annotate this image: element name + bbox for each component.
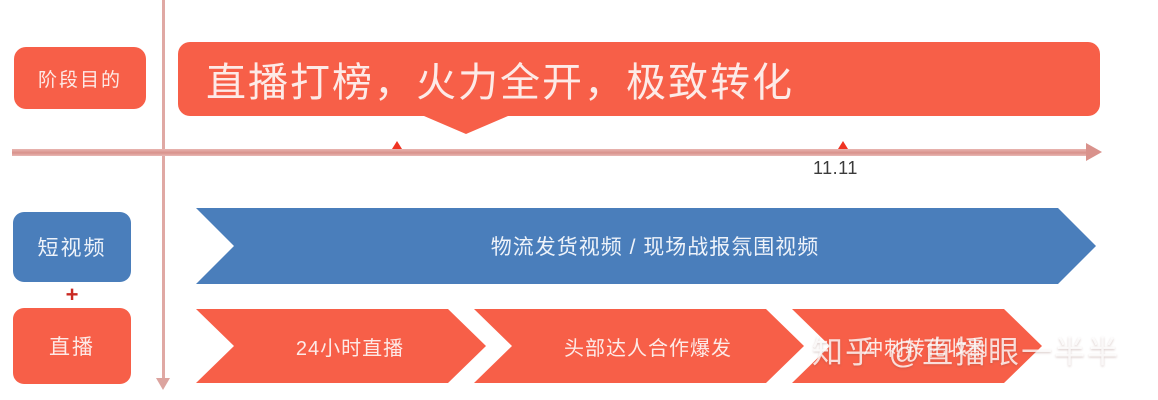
category-label-live: 直播: [49, 331, 95, 361]
chevron-label: 24小时直播: [196, 309, 486, 383]
chevron-live-2: 头部达人合作爆发: [474, 309, 804, 383]
chevron-short-video-1: 物流发货视频 / 现场战报氛围视频: [196, 208, 1096, 284]
plus-icon: +: [13, 282, 131, 308]
timeline-date-label: 11.11: [813, 158, 858, 179]
chevron-label: 头部达人合作爆发: [474, 309, 804, 383]
timeline-tick-marker-2: [838, 141, 848, 149]
chevron-label: 物流发货视频 / 现场战报氛围视频: [196, 208, 1096, 284]
stage-purpose-banner: 直播打榜，火力全开，极致转化: [178, 42, 1100, 134]
banner-text: 直播打榜，火力全开，极致转化: [178, 42, 1100, 116]
stage-purpose-label: 阶段目的: [38, 65, 122, 92]
chevron-live-1: 24小时直播: [196, 309, 486, 383]
category-pill-short-video: 短视频: [13, 212, 131, 282]
timeline-axis: [12, 149, 1090, 156]
vertical-divider-arrow-icon: [156, 378, 170, 390]
timeline-arrow-icon: [1086, 143, 1102, 161]
stage-purpose-pill: 阶段目的: [14, 47, 146, 109]
chevron-live-3: 冲刺转化收割: [792, 309, 1042, 383]
category-pill-live: 直播: [13, 308, 131, 384]
vertical-divider-line: [162, 0, 165, 382]
slide-canvas: 阶段目的 直播打榜，火力全开，极致转化 11.11 短视频 + 直播 物流发货视…: [0, 0, 1158, 400]
live-chevron-row: 24小时直播 头部达人合作爆发 冲刺转化收割: [196, 309, 1056, 383]
category-label-short-video: 短视频: [38, 232, 107, 262]
chevron-label: 冲刺转化收割: [792, 309, 1042, 383]
timeline-tick-marker-1: [392, 141, 402, 149]
short-video-chevron-row: 物流发货视频 / 现场战报氛围视频: [196, 208, 1096, 284]
